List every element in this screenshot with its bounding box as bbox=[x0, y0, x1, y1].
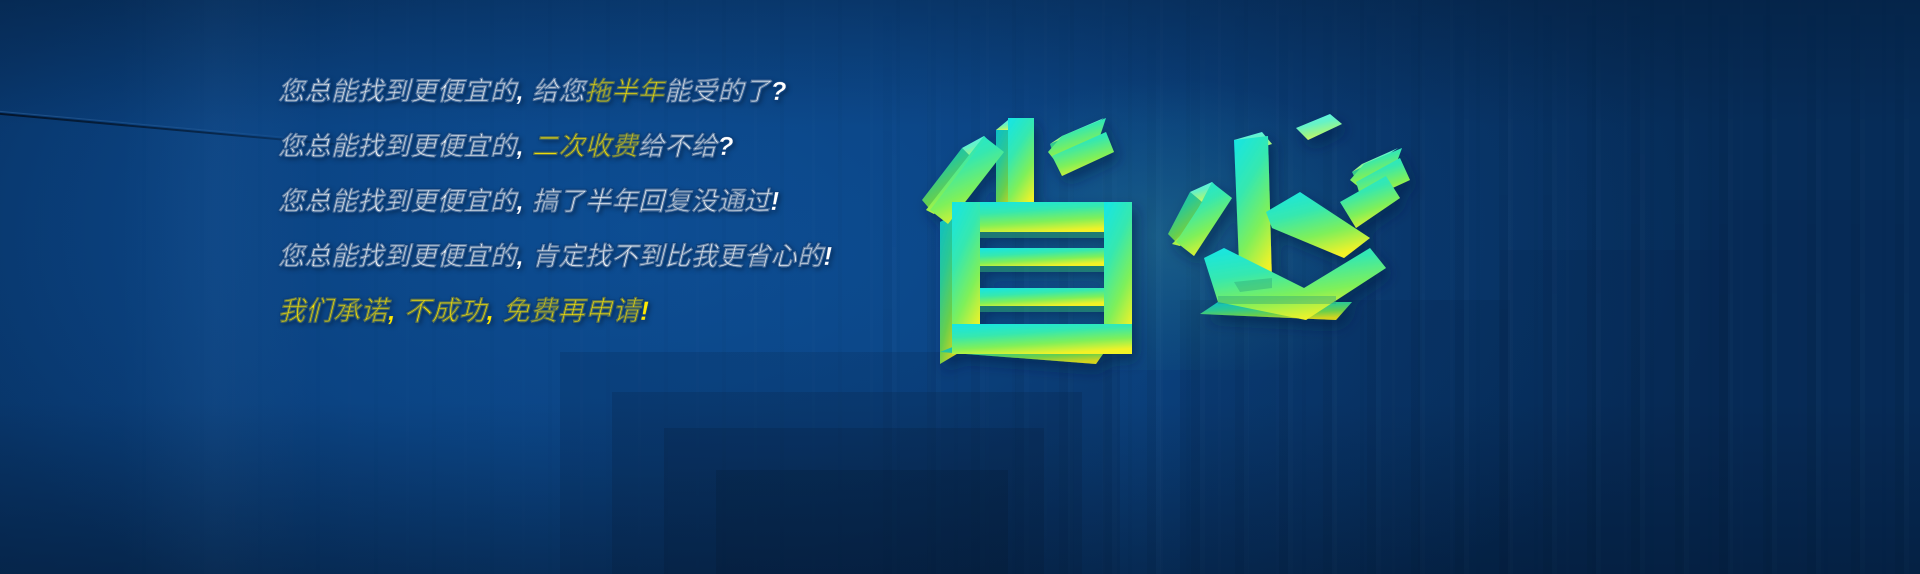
copy-line-2: 您总能找到更便宜的, 二次收费给不给? bbox=[278, 133, 898, 159]
copy-line-1-part-3: 能受的了? bbox=[664, 76, 786, 106]
copy-line-3: 您总能找到更便宜的, 搞了半年回复没通过! bbox=[278, 188, 898, 214]
copy-line-2-part-1: 您总能找到更便宜的, bbox=[278, 131, 532, 161]
copy-line-3-text: 您总能找到更便宜的, 搞了半年回复没通过! bbox=[278, 186, 780, 216]
copy-line-2-part-3: 给不给? bbox=[638, 131, 734, 161]
hero-3d-lettering bbox=[900, 52, 1420, 392]
copy-line-5-text: 我们承诺, 不成功, 免费再申请! bbox=[278, 296, 650, 326]
copy-line-5-promise: 我们承诺, 不成功, 免费再申请! bbox=[278, 298, 898, 325]
copy-line-4: 您总能找到更便宜的, 肯定找不到比我更省心的! bbox=[278, 243, 898, 269]
marketing-copy-block: 您总能找到更便宜的, 给您拖半年能受的了? 您总能找到更便宜的, 二次收费给不给… bbox=[278, 78, 898, 325]
copy-line-1-highlight: 拖半年 bbox=[585, 76, 665, 106]
copy-line-4-text: 您总能找到更便宜的, 肯定找不到比我更省心的! bbox=[278, 241, 833, 271]
copy-line-2-highlight: 二次收费 bbox=[532, 131, 638, 161]
copy-line-1-part-1: 您总能找到更便宜的, 给您 bbox=[278, 76, 585, 106]
copy-line-1: 您总能找到更便宜的, 给您拖半年能受的了? bbox=[278, 78, 898, 104]
promo-banner: 您总能找到更便宜的, 给您拖半年能受的了? 您总能找到更便宜的, 二次收费给不给… bbox=[0, 0, 1920, 574]
